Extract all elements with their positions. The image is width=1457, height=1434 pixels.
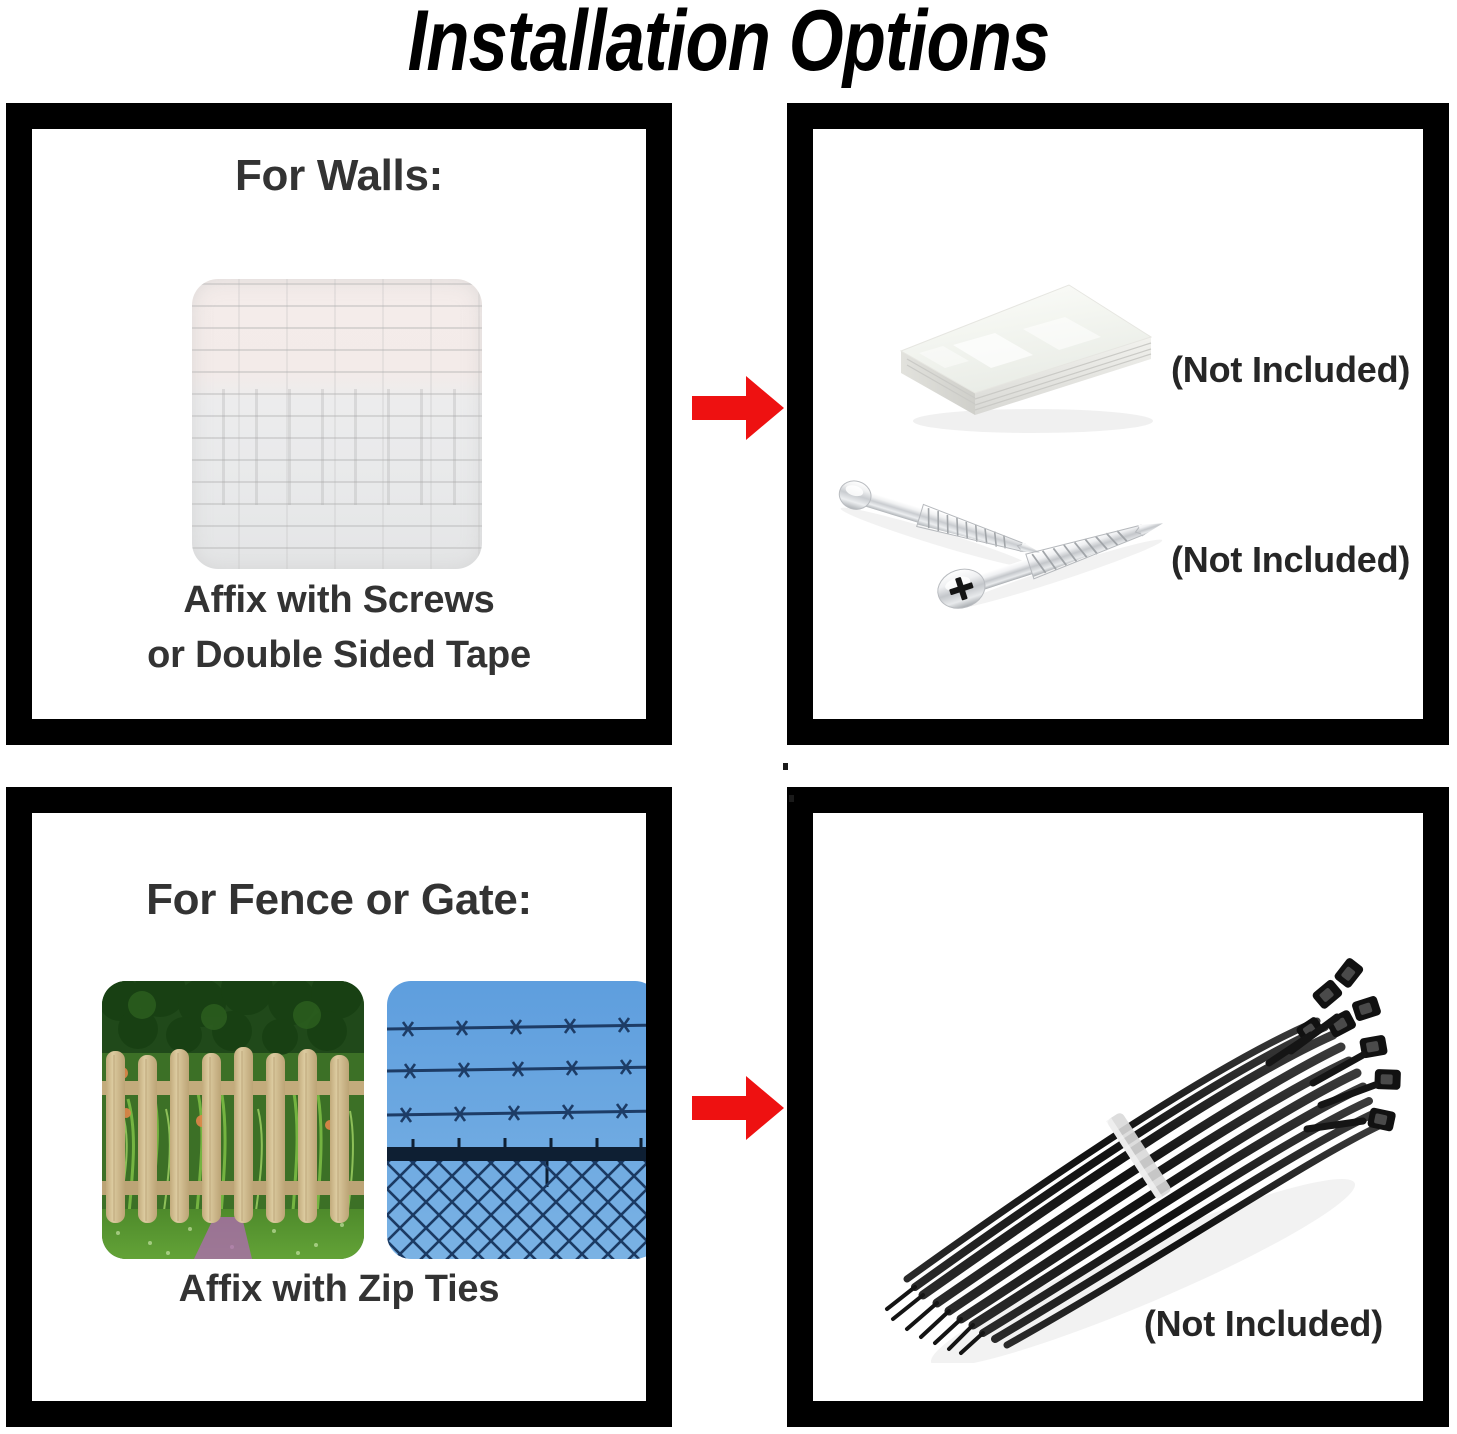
- chain-link-barbed-wire-fence-image: [387, 981, 646, 1259]
- panel-heading-fence: For Fence or Gate:: [32, 875, 646, 925]
- white-brick-wall-image: [192, 279, 482, 569]
- panel-heading-walls: For Walls:: [32, 151, 646, 201]
- artifact-speck: [783, 763, 788, 770]
- panel-caption-walls: Affix with Screws or Double Sided Tape: [32, 573, 646, 683]
- red-right-arrow-icon: [690, 372, 786, 444]
- panel-fence-hardware-content: (Not Included): [813, 813, 1423, 1401]
- red-right-arrow-icon-2: [690, 1072, 786, 1144]
- double-sided-tape-icon: [883, 249, 1183, 439]
- caption-line-1: Affix with Screws: [32, 573, 646, 628]
- caption-line-2: or Double Sided Tape: [32, 628, 646, 683]
- panel-caption-fence: Affix with Zip Ties: [32, 1262, 646, 1317]
- page-title: Installation Options: [131, 0, 1326, 86]
- wooden-picket-fence-image: [102, 981, 364, 1259]
- caption-line-1: Affix with Zip Ties: [32, 1262, 646, 1317]
- artifact-speck-2: [789, 795, 794, 802]
- screws-not-included-label: (Not Included): [1171, 539, 1410, 581]
- panel-wall-hardware-content: (Not Included): [813, 129, 1423, 719]
- tape-not-included-label: (Not Included): [1171, 349, 1410, 391]
- zip-ties-bundle-icon: [863, 943, 1403, 1363]
- panel-for-walls-content: For Walls: Affix with Screws or Double S…: [32, 129, 646, 719]
- panel-wall-hardware: (Not Included): [787, 103, 1449, 745]
- zip-ties-not-included-label: (Not Included): [1144, 1303, 1383, 1345]
- panel-for-fence-content: For Fence or Gate:: [32, 813, 646, 1401]
- panel-for-fence-or-gate: For Fence or Gate:: [6, 787, 672, 1427]
- panel-for-walls: For Walls: Affix with Screws or Double S…: [6, 103, 672, 745]
- panel-fence-hardware: (Not Included): [787, 787, 1449, 1427]
